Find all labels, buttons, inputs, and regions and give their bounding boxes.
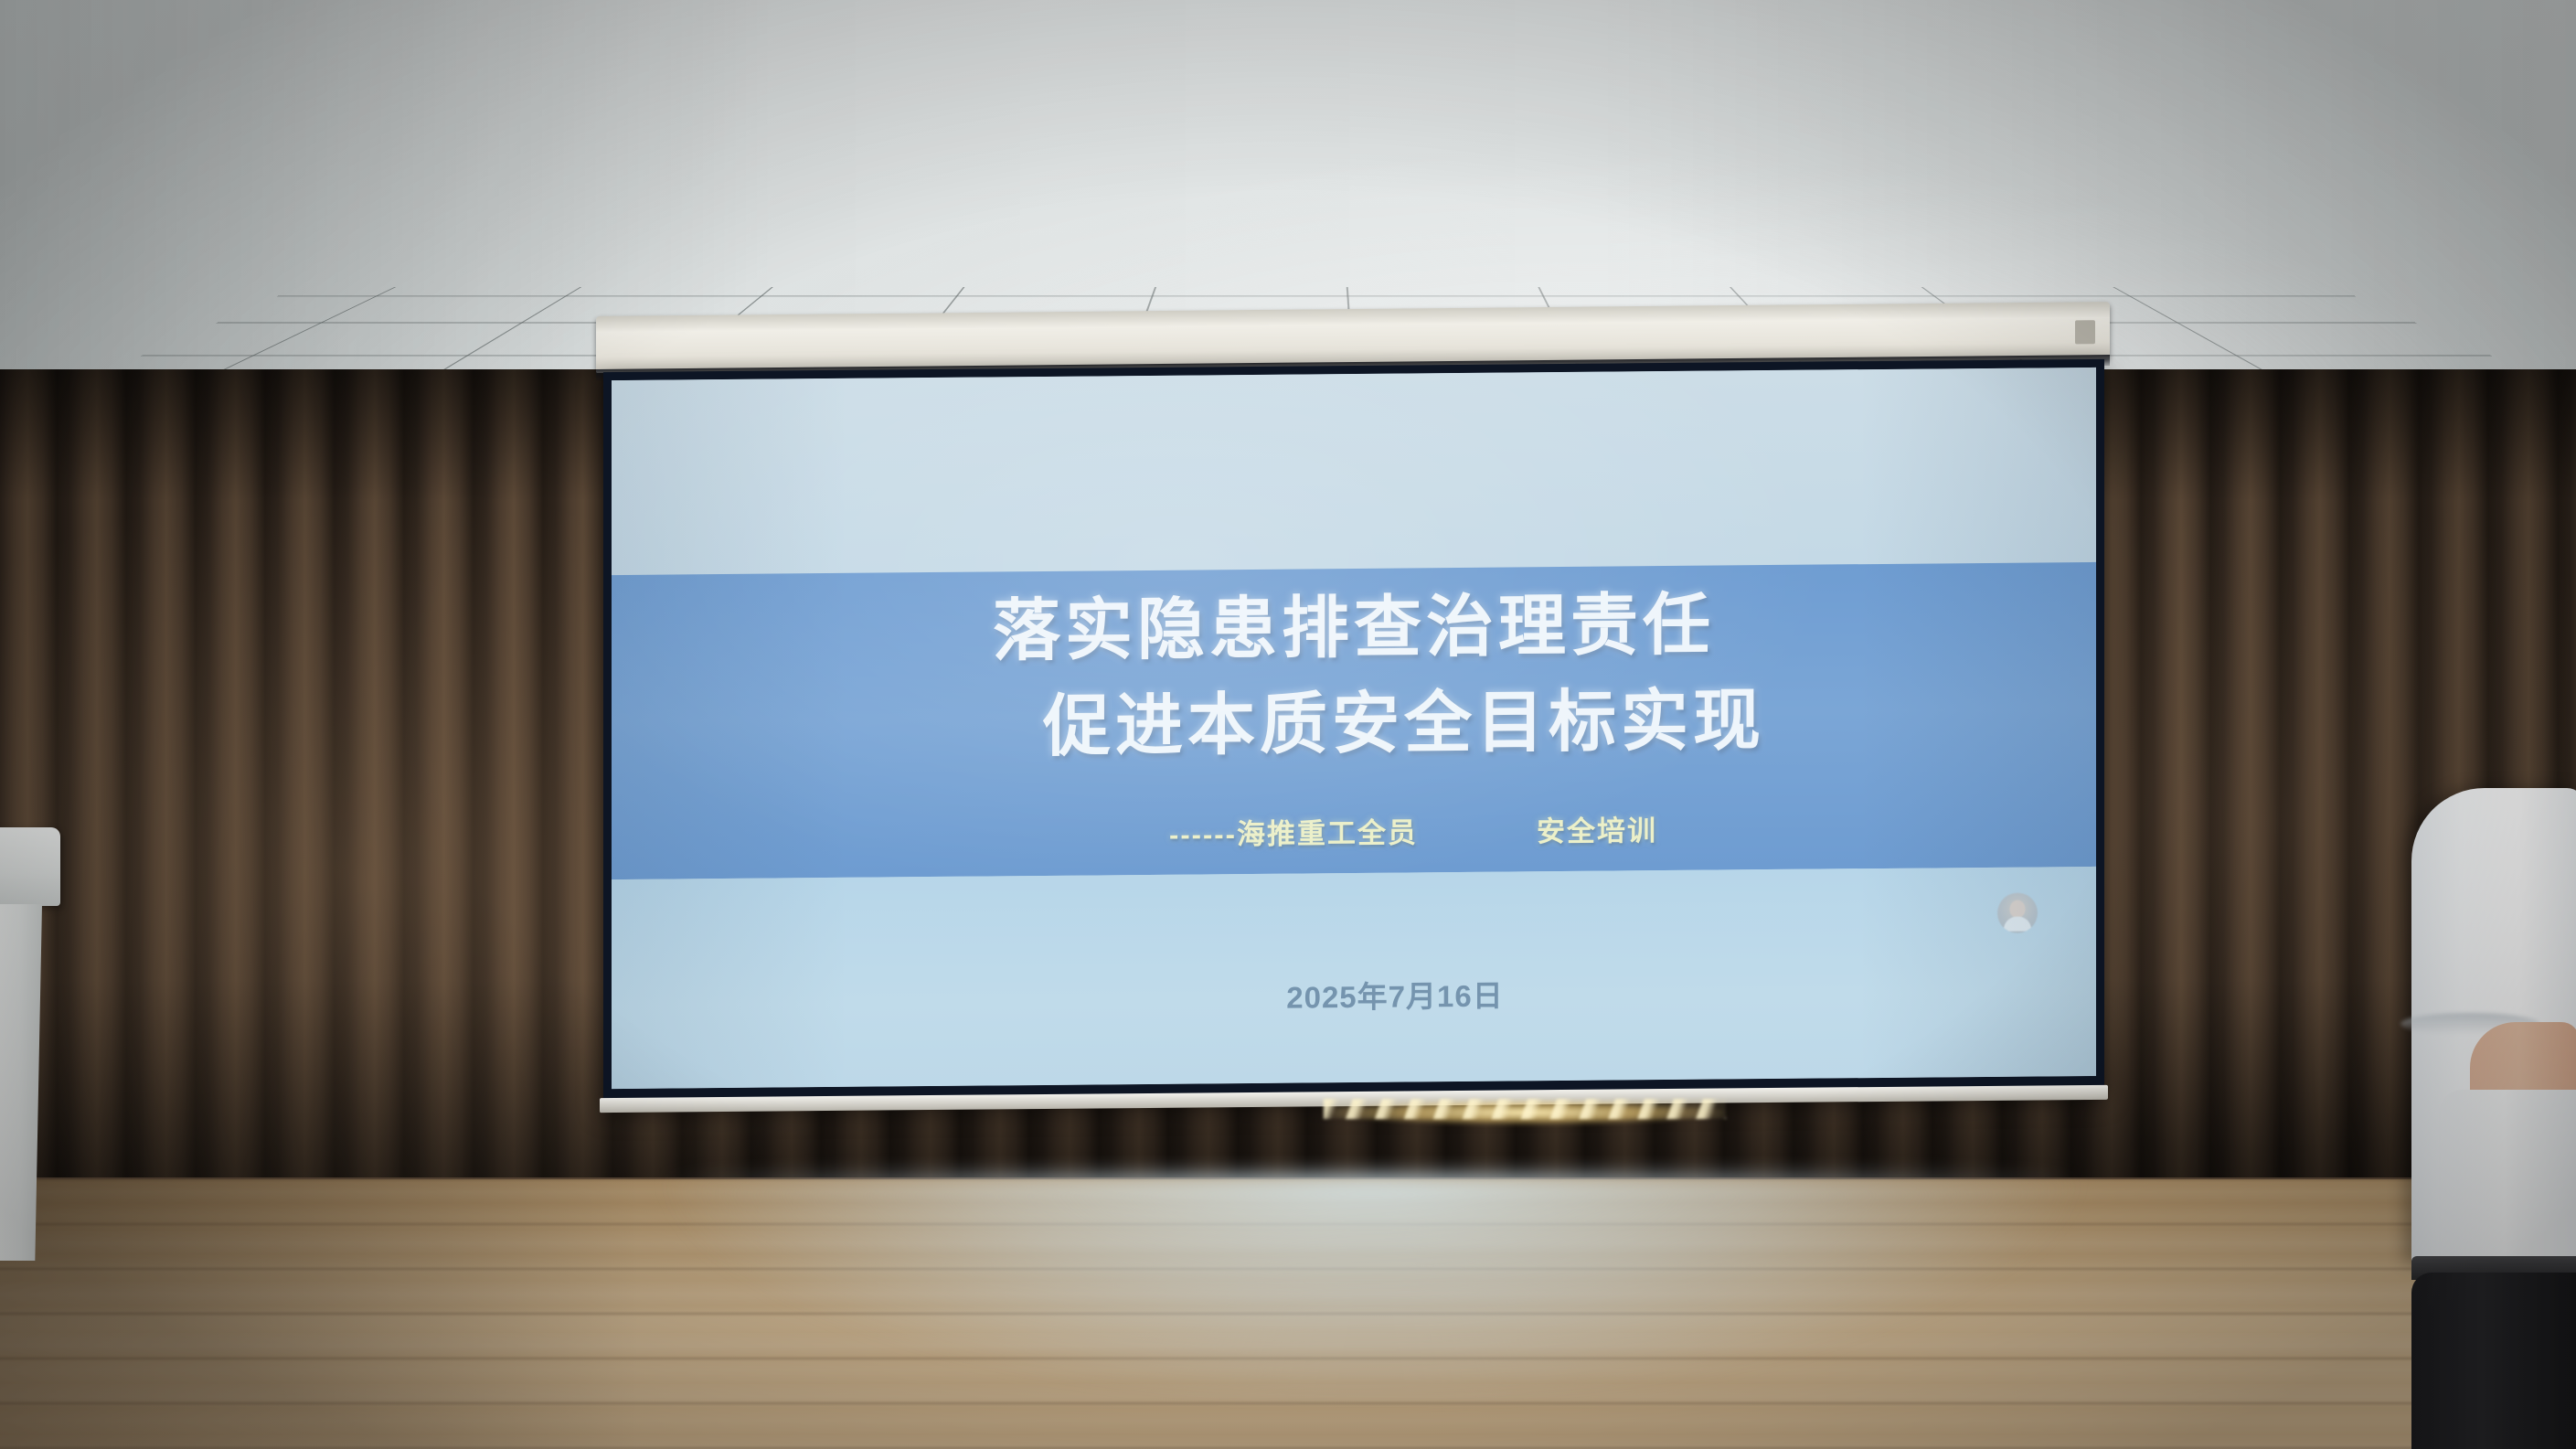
avatar-body bbox=[2004, 916, 2031, 931]
projector-screen: 落实隐患排查治理责任 促进本质安全目标实现 ------海推重工全员 安全培训 … bbox=[592, 309, 2110, 1135]
slide-background-top bbox=[612, 368, 2096, 575]
meeting-room-photo: 落实隐患排查治理责任 促进本质安全目标实现 ------海推重工全员 安全培训 … bbox=[0, 0, 2576, 1449]
slide-subtitle-left: ------海推重工全员 bbox=[1169, 809, 1418, 852]
lectern-top bbox=[0, 827, 60, 906]
screen-surface: 落实隐患排查治理责任 促进本质安全目标实现 ------海推重工全员 安全培训 … bbox=[612, 368, 2096, 1089]
slide-title-line-1: 落实隐患排查治理责任 bbox=[612, 573, 2096, 682]
screen-frame: 落实隐患排查治理责任 促进本质安全目标实现 ------海推重工全员 安全培训 … bbox=[603, 359, 2104, 1103]
person-shirt-lower bbox=[2439, 1090, 2576, 1273]
slide-title: 落实隐患排查治理责任 促进本质安全目标实现 bbox=[612, 573, 2096, 778]
slide-title-line-2: 促进本质安全目标实现 bbox=[612, 669, 2096, 778]
slide-subtitle-right: 安全培训 bbox=[1537, 807, 1657, 849]
lectern bbox=[0, 827, 60, 1257]
floor bbox=[0, 1179, 2576, 1449]
lectern-body bbox=[0, 904, 42, 1261]
projector-light-spill bbox=[567, 1174, 2176, 1448]
floor-shadow bbox=[0, 1179, 640, 1449]
person bbox=[2402, 788, 2576, 1449]
person-pants bbox=[2411, 1273, 2576, 1449]
roller-end-cap bbox=[2075, 320, 2095, 344]
background-warm-light-streaks bbox=[1324, 1099, 1726, 1119]
avatar bbox=[1997, 892, 2038, 932]
